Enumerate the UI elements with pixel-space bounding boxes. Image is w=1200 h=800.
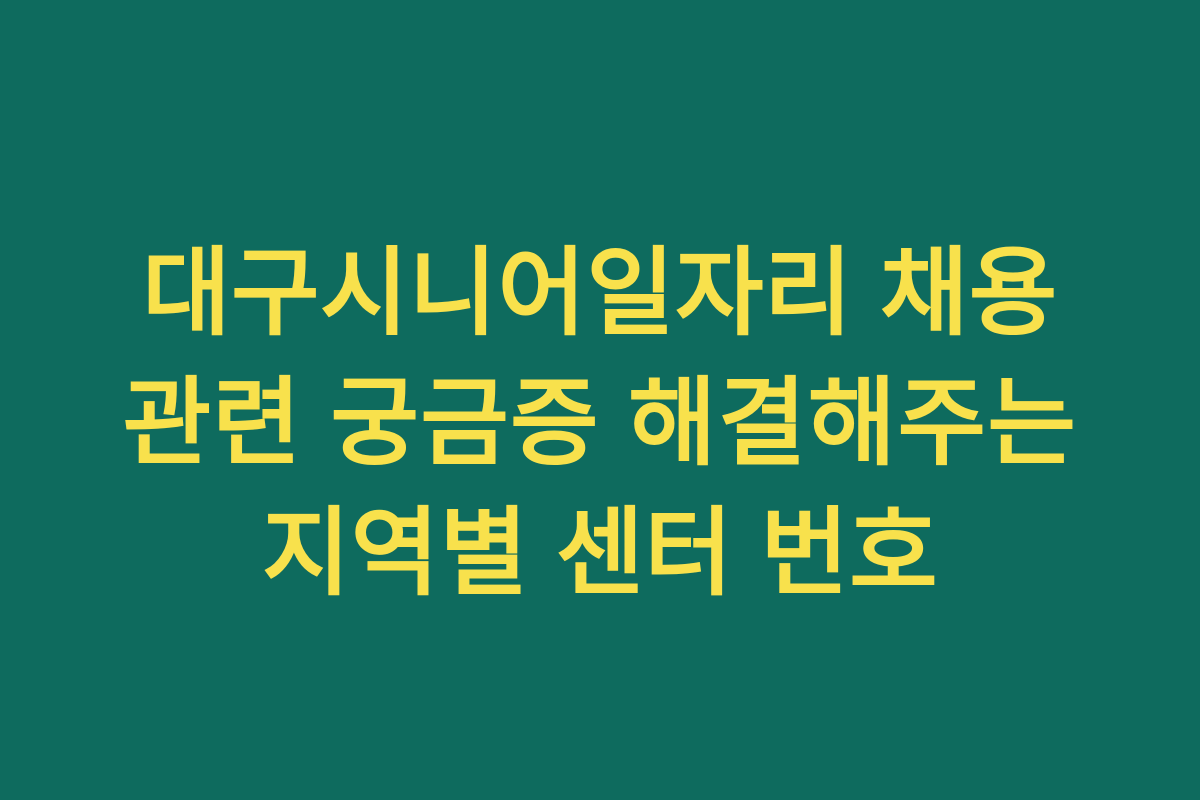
poster-canvas: 대구시니어일자리 채용 관련 궁금증 해결해주는 지역별 센터 번호 [0,0,1200,800]
headline-line-1: 대구시니어일자리 채용 [20,229,1180,359]
page-title: 대구시니어일자리 채용 관련 궁금증 해결해주는 지역별 센터 번호 [20,229,1180,619]
headline-line-3: 지역별 센터 번호 [20,489,1180,619]
headline-line-2: 관련 궁금증 해결해주는 [20,359,1180,489]
